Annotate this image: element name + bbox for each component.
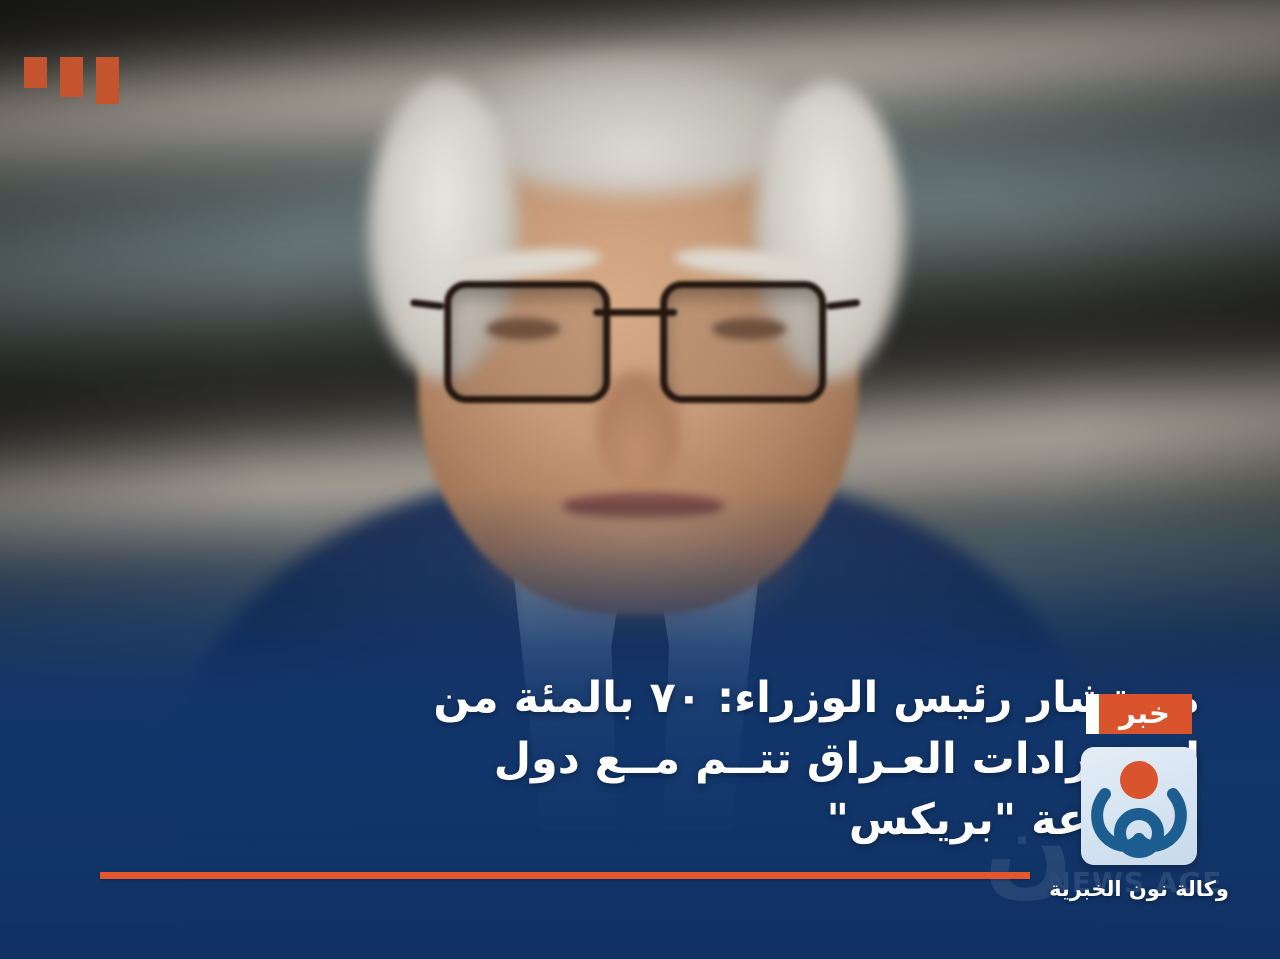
- logo-bar-1: [96, 57, 119, 104]
- news-badge-box: خبر: [1099, 694, 1192, 734]
- news-badge: خبر: [1086, 694, 1192, 734]
- orange-divider: [100, 872, 1030, 879]
- branding-block: خبر وكالة نون الخبرية: [1020, 694, 1258, 901]
- logo-bar-2: [60, 57, 83, 97]
- logo-bar-3: [24, 57, 47, 88]
- white-bar-icon: [1086, 694, 1099, 734]
- noon-agency-logo-icon: [1081, 747, 1197, 865]
- news-card: ن ة الانبـا NEWS AGE مستشار رئيس الوزراء…: [0, 0, 1280, 959]
- three-bars-logo-icon: [24, 57, 119, 104]
- status-badge: خبر: [1119, 699, 1170, 728]
- brand-caption: وكالة نون الخبرية: [1049, 877, 1229, 901]
